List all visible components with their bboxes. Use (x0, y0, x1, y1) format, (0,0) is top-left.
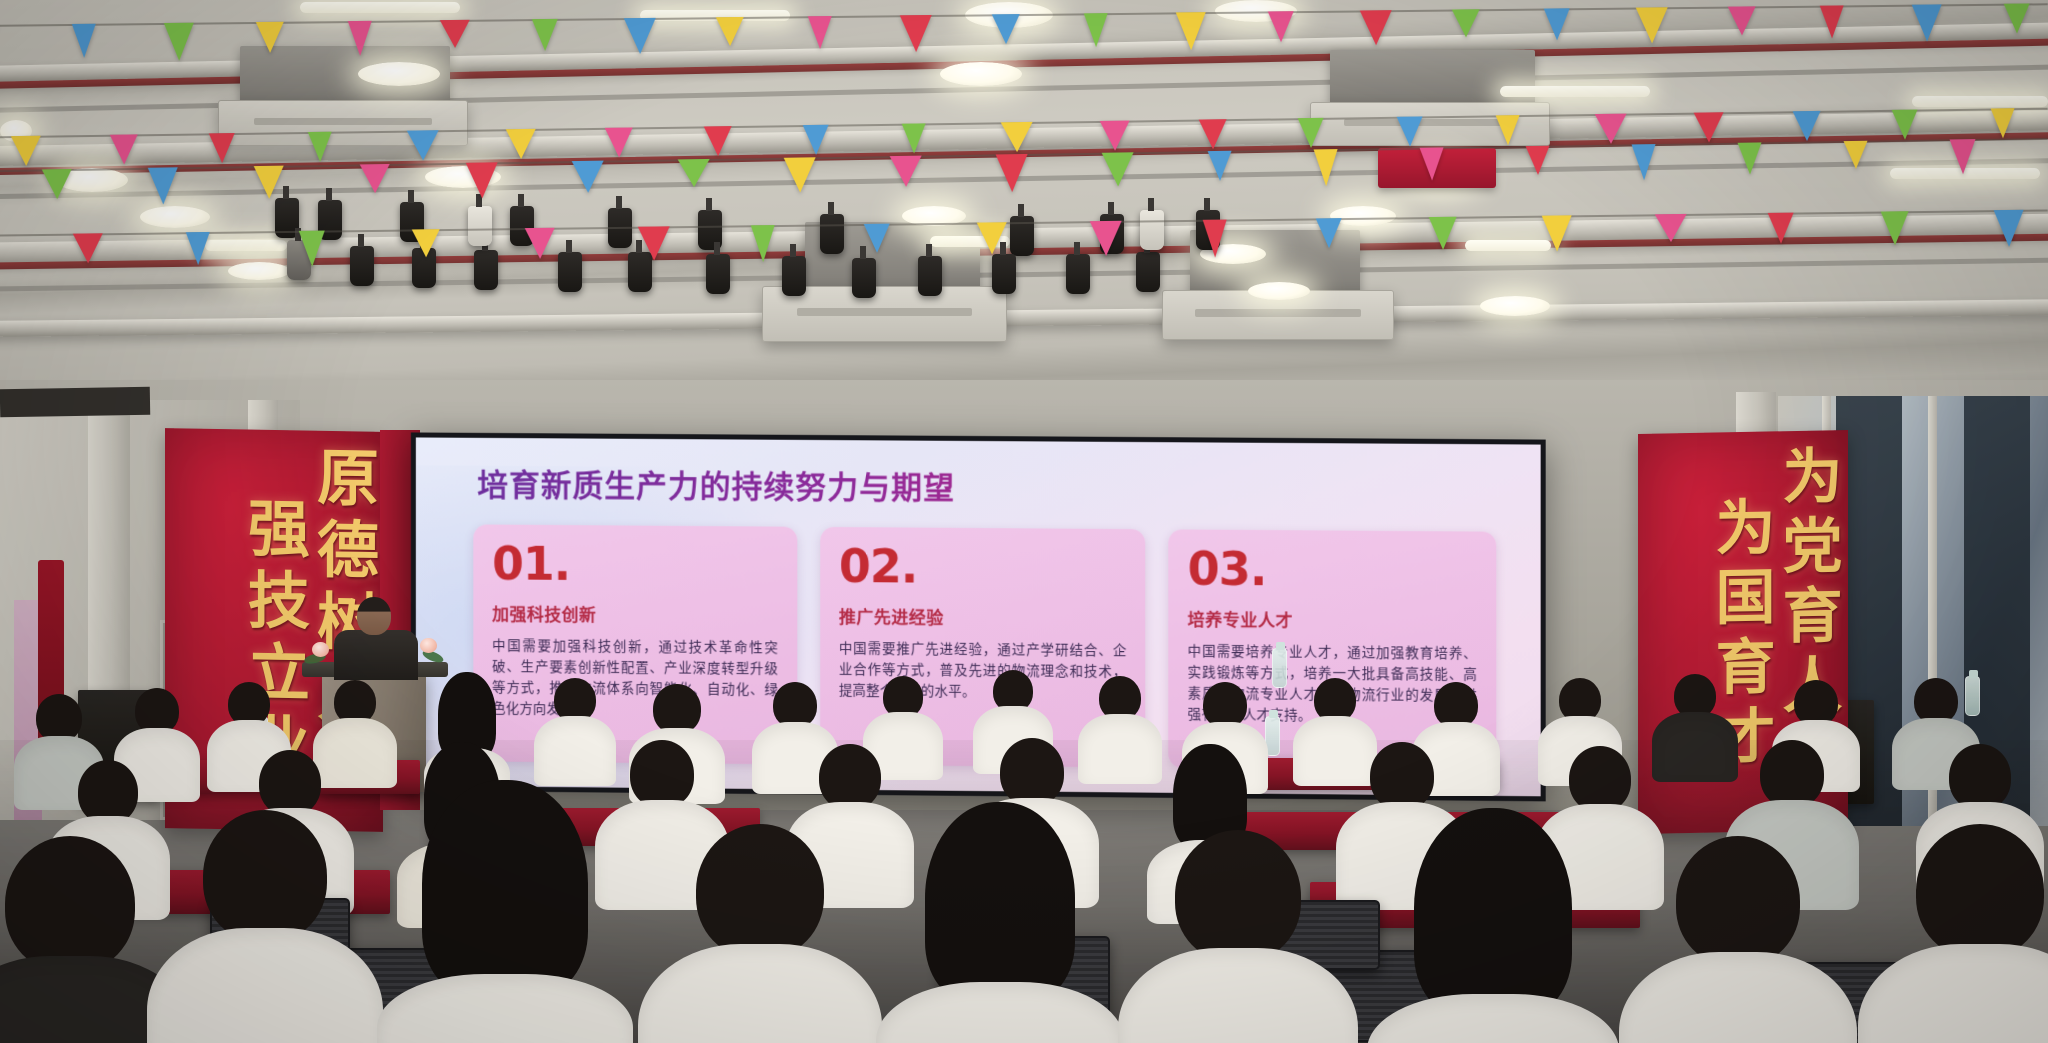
audience-member-foreground (400, 788, 610, 1043)
bunting-flag (605, 127, 633, 157)
person-torso (1619, 952, 1857, 1043)
person-head (653, 684, 701, 734)
bunting-flag (1526, 146, 1550, 175)
bunting-flag (1994, 210, 2024, 247)
audience-member-foreground (1390, 814, 1596, 1043)
person-torso (1078, 714, 1162, 784)
card-body-text: 中国需要加强科技创新，通过技术革命性突破、生产要素创新性配置、产业深度转型升级等… (492, 636, 778, 722)
tube-light (300, 2, 460, 13)
bunting-flag (1199, 119, 1227, 149)
audience-member-foreground (660, 824, 860, 1043)
bunting-flag (1420, 147, 1445, 180)
card-heading: 推广先进经验 (839, 603, 1127, 630)
bunting-flag (360, 164, 390, 193)
bunting-flag (254, 166, 285, 199)
ceiling-panel-light (1248, 282, 1310, 300)
person-torso (147, 928, 383, 1043)
bunting-flag (148, 167, 179, 204)
person-torso (377, 974, 633, 1043)
bunting-flag (864, 224, 890, 253)
bunting-flag (1429, 217, 1457, 250)
bunting-flag (1632, 144, 1657, 180)
water-bottle (1272, 648, 1287, 688)
bunting-flag (1360, 10, 1392, 45)
person-head (1949, 744, 2011, 810)
bunting-flag (784, 157, 817, 192)
bunting-flag (1084, 13, 1108, 47)
audience-member-foreground (170, 810, 360, 1043)
bunting-flag (42, 169, 72, 199)
bunting-flag (1655, 214, 1687, 242)
person-torso (1652, 712, 1738, 782)
slide-title: 培育新质生产力的持续努力与期望 (477, 460, 1540, 512)
bunting-flag (11, 136, 41, 166)
audience-member-foreground (900, 808, 1100, 1043)
bunting-flag (716, 17, 744, 46)
bunting-flag (1203, 220, 1227, 258)
person-head (78, 760, 138, 824)
bunting-flag (1100, 121, 1130, 151)
bunting-flag (407, 130, 439, 160)
tube-light (1500, 86, 1650, 97)
bunting-flag (803, 125, 829, 155)
person-head (630, 740, 694, 808)
card-heading: 培养专业人才 (1188, 606, 1477, 633)
person-head (36, 694, 82, 742)
bunting-flag (440, 20, 470, 48)
bunting-flag (164, 23, 194, 61)
bunting-flag (1544, 8, 1570, 40)
person-head (819, 744, 881, 810)
bunting-flag (110, 134, 138, 164)
person-head (1569, 746, 1631, 812)
bunting-flag (900, 15, 932, 52)
auditorium-scene: 原德树人 强技立业 为党育人 为国育才 培育新质生产力的持续努力与期望 01. … (0, 0, 2048, 1043)
bunting-flag (1298, 118, 1324, 148)
bunting-flag (506, 129, 536, 159)
bunting-flag (308, 132, 332, 162)
bunting-flag (1728, 6, 1756, 35)
bunting-flag (348, 21, 372, 56)
bunting-flag (808, 16, 832, 49)
bunting-flag (624, 18, 656, 54)
bunting-flag (1452, 9, 1480, 37)
person-head (696, 824, 824, 958)
bunting-flag (1316, 218, 1342, 248)
bunting-flag (678, 159, 710, 187)
bunting-flag (1268, 11, 1294, 42)
person-head (5, 836, 135, 972)
person-torso (534, 716, 616, 786)
person-hair (422, 780, 588, 996)
audience-member (540, 678, 610, 782)
card-number: 02. (839, 543, 1127, 591)
person-hair (1414, 808, 1572, 1016)
projector-mount (0, 387, 150, 418)
bunting-flag (525, 228, 555, 259)
bunting-flag (299, 231, 325, 267)
bunting-flag (572, 161, 604, 193)
bunting-flag (1912, 4, 1942, 41)
bunting-flag (209, 133, 235, 163)
bunting-flag (1176, 12, 1206, 50)
bunting-flag (256, 22, 284, 53)
bunting-flag (412, 229, 440, 257)
flower (420, 638, 437, 653)
bunting-flag (1001, 122, 1033, 152)
audience-member (1085, 676, 1155, 780)
bunting-flag (1950, 139, 1977, 174)
audience-member-foreground (1880, 824, 2048, 1043)
person-torso (876, 982, 1124, 1043)
person-torso (638, 944, 882, 1043)
bunting-flag (992, 14, 1020, 44)
bunting-flag (1820, 5, 1844, 38)
person-head (259, 750, 321, 816)
bunting-flag (996, 154, 1029, 192)
bunting-flag (638, 226, 670, 260)
person-head (1760, 740, 1824, 808)
bunting-flag (72, 24, 96, 58)
bunting-flag (532, 19, 558, 51)
person-head (1175, 830, 1301, 962)
person-head (1916, 824, 2044, 958)
person-head (203, 810, 327, 942)
bunting-flag (902, 123, 926, 153)
speaker-body (334, 630, 418, 680)
bunting-flag (1595, 114, 1627, 144)
bunting-flag (1208, 151, 1232, 181)
slide-card-1: 01. 加强科技创新 中国需要加强科技创新，通过技术革命性突破、生产要素创新性配… (473, 524, 797, 764)
bunting-flag (1738, 142, 1762, 174)
card-number: 03. (1188, 546, 1477, 594)
bunting-flag (1844, 141, 1868, 169)
speaker-head (357, 597, 391, 635)
audience-member-foreground (1140, 830, 1336, 1043)
bunting-flag (1881, 211, 1909, 245)
bunting-flag (977, 222, 1007, 254)
bunting-flag (751, 225, 775, 262)
bunting-flag (1496, 115, 1520, 145)
flower (312, 642, 329, 657)
bunting-flag (1542, 215, 1572, 251)
person-torso (1367, 994, 1619, 1043)
bunting-flag (73, 233, 103, 263)
bunting-flag (1314, 149, 1339, 186)
bunting-flag (1636, 7, 1668, 43)
bunting-flag (466, 162, 499, 198)
bunting-flag (2004, 3, 2030, 33)
audience-member (1660, 674, 1730, 778)
person-torso (1858, 944, 2048, 1043)
bunting-flag (1102, 152, 1135, 186)
bunting-flag (704, 126, 732, 156)
ceiling-panel-light (1480, 296, 1550, 316)
person-head (1370, 742, 1434, 810)
person-torso (1118, 948, 1358, 1043)
bunting-flag (1090, 221, 1122, 256)
card-heading: 加强科技创新 (492, 600, 778, 627)
bunting-flag (1768, 213, 1794, 244)
ceiling-beam (0, 299, 2048, 337)
person-head (1000, 738, 1064, 806)
audience-member-foreground (1640, 836, 1836, 1043)
audience-member-foreground (0, 836, 170, 1043)
audience-area (0, 740, 2048, 1043)
card-number: 01. (492, 541, 778, 589)
person-hair (925, 802, 1075, 1002)
bunting-flag (1397, 116, 1423, 146)
bunting-flag (186, 232, 210, 265)
bunting-flag (890, 156, 922, 187)
person-head (1676, 836, 1800, 966)
